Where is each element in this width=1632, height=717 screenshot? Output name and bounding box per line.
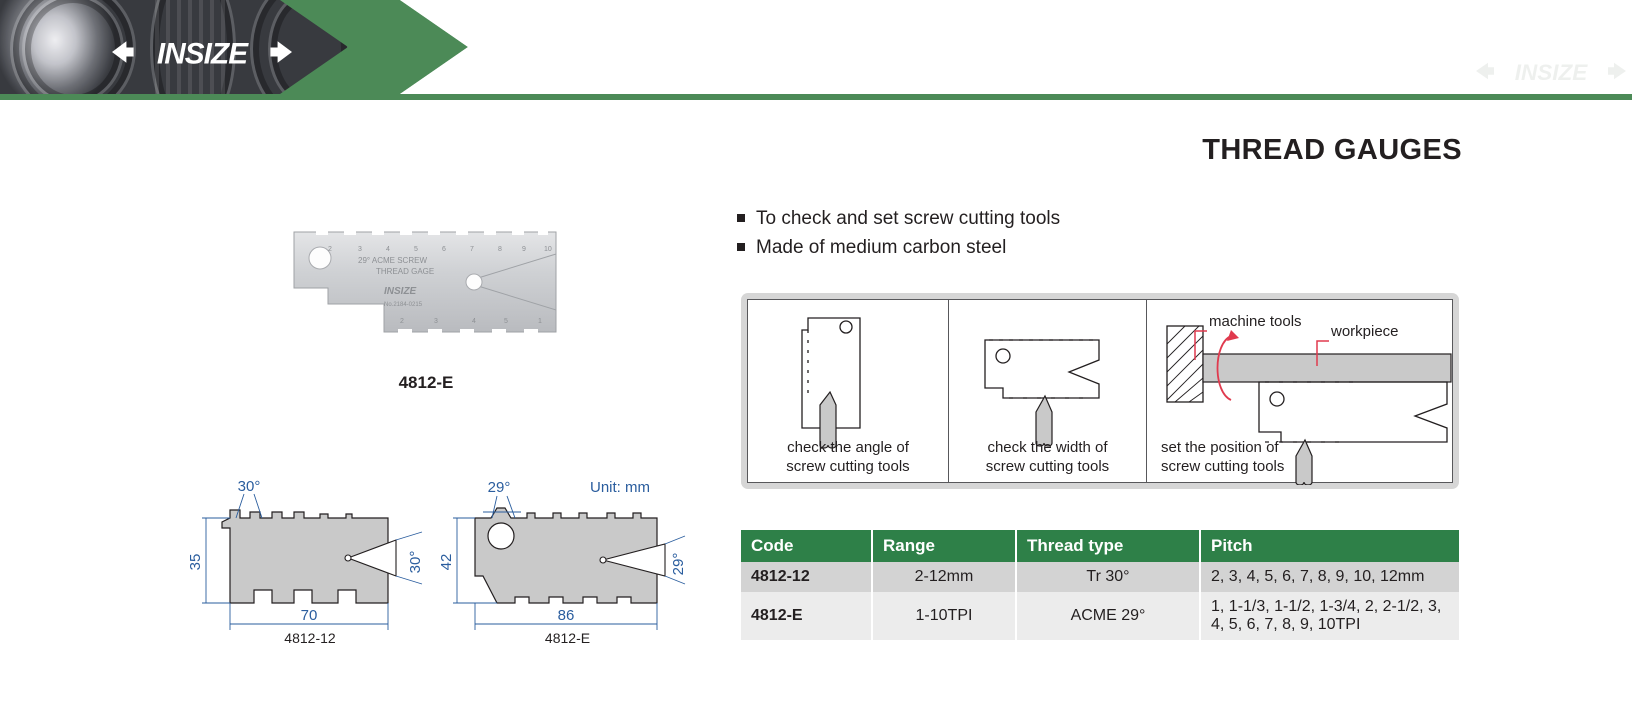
drawing-4812-12: 30° 30° 35 70 <box>180 478 440 638</box>
caption-line: set the position of <box>1161 438 1466 457</box>
usage-cell-check-angle: check the angle of screw cutting tools <box>748 300 948 482</box>
cell-code: 4812-E <box>741 592 872 640</box>
check-width-diagram <box>949 300 1147 450</box>
engraving-line-2: THREAD GAGE <box>376 267 434 276</box>
check-angle-diagram <box>748 300 948 450</box>
dim-height: 42 <box>438 554 455 571</box>
table-row: 4812-E 1-10TPI ACME 29° 1, 1-1/3, 1-1/2,… <box>741 592 1459 640</box>
dim-angle-top: 30° <box>238 478 261 495</box>
svg-text:8: 8 <box>498 246 502 253</box>
features-list: To check and set screw cutting tools Mad… <box>737 206 1060 264</box>
product-photo-4812-e: 29° ACME SCREW THREAD GAGE INSIZE No.218… <box>288 218 564 354</box>
usage-cell-set-position: machine tools workpiece set the position… <box>1146 300 1452 482</box>
cell-thread-type: Tr 30° <box>1016 562 1200 592</box>
feature-text: Made of medium carbon steel <box>756 235 1006 260</box>
caption-line: check the width of <box>949 438 1146 457</box>
svg-text:6: 6 <box>442 246 446 253</box>
column-header-code: Code <box>741 530 872 562</box>
dim-width: 70 <box>301 607 318 624</box>
dim-width: 86 <box>558 607 575 624</box>
drawing-caption-4812-12: 4812-12 <box>180 630 440 646</box>
header-green-rule <box>0 94 1632 100</box>
usage-cell-check-width: check the width of screw cutting tools <box>948 300 1146 482</box>
usage-caption: set the position of screw cutting tools <box>1147 438 1466 476</box>
drawing-caption-4812-e: 4812-E <box>435 630 700 646</box>
unit-label: Unit: mm <box>590 479 650 496</box>
callout-workpiece: workpiece <box>1330 323 1399 340</box>
svg-text:7: 7 <box>470 246 474 253</box>
dim-angle-right: 30° <box>407 551 424 574</box>
product-photo-caption: 4812-E <box>288 373 564 393</box>
feature-text: To check and set screw cutting tools <box>756 206 1060 231</box>
engraving-brand: INSIZE <box>384 286 417 297</box>
page-title: THREAD GAUGES <box>1202 134 1462 167</box>
page-header: INSIZE INSIZE <box>0 0 1632 100</box>
svg-text:4: 4 <box>472 318 476 325</box>
cell-pitch: 1, 1-1/3, 1-1/2, 1-3/4, 2, 2-1/2, 3, 4, … <box>1200 592 1459 640</box>
usage-illustration-panel: check the angle of screw cutting tools c… <box>741 293 1459 489</box>
dim-height: 35 <box>187 554 204 571</box>
cell-range: 1-10TPI <box>872 592 1016 640</box>
callout-machine-tools: machine tools <box>1209 313 1302 330</box>
svg-text:5: 5 <box>504 318 508 325</box>
table-row: 4812-12 2-12mm Tr 30° 2, 3, 4, 5, 6, 7, … <box>741 562 1459 592</box>
cell-range: 2-12mm <box>872 562 1016 592</box>
insize-watermark: INSIZE <box>1476 56 1626 86</box>
column-header-range: Range <box>872 530 1016 562</box>
column-header-thread-type: Thread type <box>1016 530 1200 562</box>
column-header-pitch: Pitch <box>1200 530 1459 562</box>
svg-text:3: 3 <box>358 246 362 253</box>
svg-text:1: 1 <box>538 318 542 325</box>
svg-text:4: 4 <box>386 246 390 253</box>
dim-angle-top: 29° <box>488 479 511 496</box>
insize-logo: INSIZE <box>112 34 292 70</box>
insize-watermark-text: INSIZE <box>1515 60 1589 85</box>
drawing-4812-e: 29° 29° 42 86 <box>435 478 700 638</box>
square-bullet-icon <box>737 214 745 222</box>
cell-pitch: 2, 3, 4, 5, 6, 7, 8, 9, 10, 12mm <box>1200 562 1459 592</box>
svg-text:2: 2 <box>400 318 404 325</box>
table-header-row: Code Range Thread type Pitch <box>741 530 1459 562</box>
usage-caption: check the width of screw cutting tools <box>949 438 1146 476</box>
caption-line: screw cutting tools <box>949 457 1146 476</box>
svg-text:3: 3 <box>434 318 438 325</box>
svg-text:9: 9 <box>522 246 526 253</box>
cell-thread-type: ACME 29° <box>1016 592 1200 640</box>
caption-line: check the angle of <box>748 438 948 457</box>
feature-item: Made of medium carbon steel <box>737 235 1060 260</box>
caption-line: screw cutting tools <box>1161 457 1466 476</box>
engraving-line-1: 29° ACME SCREW <box>358 256 427 265</box>
specification-table: Code Range Thread type Pitch 4812-12 2-1… <box>741 530 1459 640</box>
engraving-part-no: No.2184-0215 <box>384 302 423 308</box>
svg-text:2: 2 <box>328 246 332 253</box>
insize-logo-text: INSIZE <box>157 38 249 70</box>
caption-line: screw cutting tools <box>748 457 948 476</box>
dim-angle-right: 29° <box>670 553 687 576</box>
cell-code: 4812-12 <box>741 562 872 592</box>
square-bullet-icon <box>737 243 745 251</box>
svg-text:5: 5 <box>414 246 418 253</box>
usage-caption: check the angle of screw cutting tools <box>748 438 948 476</box>
svg-text:10: 10 <box>544 246 552 253</box>
feature-item: To check and set screw cutting tools <box>737 206 1060 231</box>
